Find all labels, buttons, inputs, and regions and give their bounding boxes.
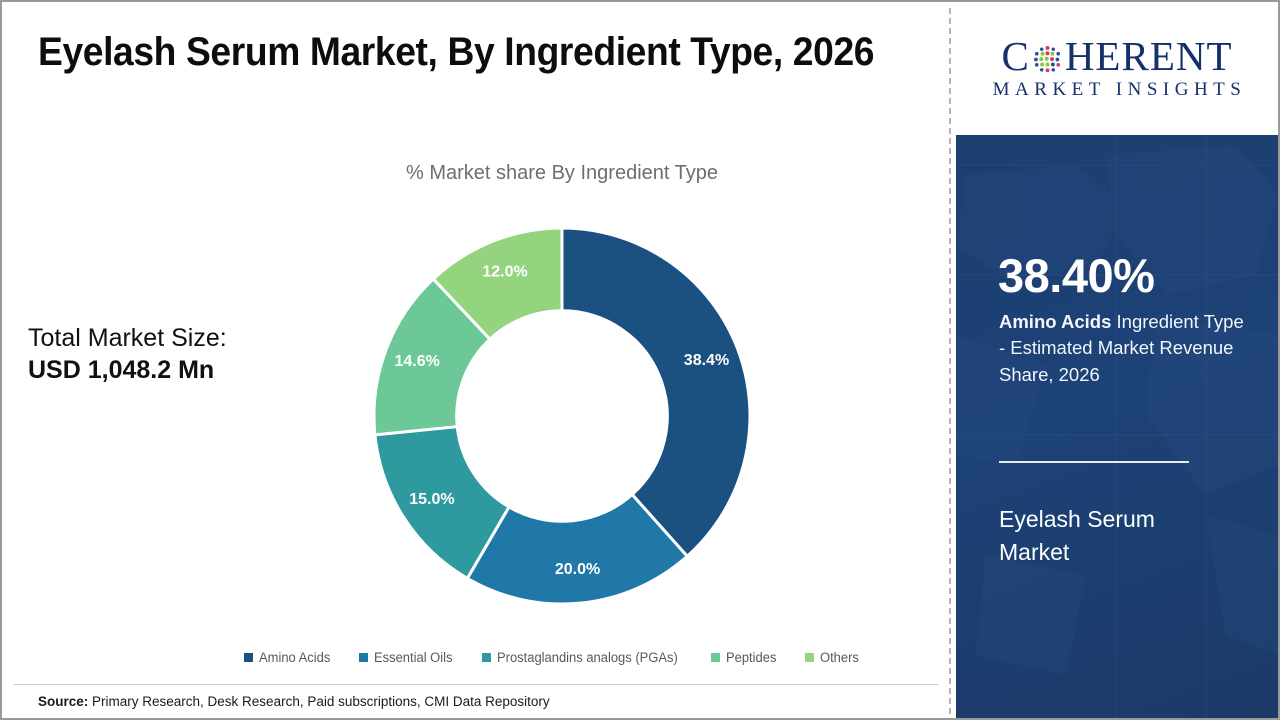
logo-wordmark: C <box>1001 36 1232 77</box>
legend-swatch-icon <box>359 653 368 662</box>
stat-panel: 38.40% Amino Acids Ingredient Type - Est… <box>956 135 1278 718</box>
legend-item[interactable]: Peptides <box>711 650 779 665</box>
legend-swatch-icon <box>805 653 814 662</box>
infographic-canvas: Eyelash Serum Market, By Ingredient Type… <box>0 0 1280 720</box>
stat-description-highlight: Amino Acids <box>999 311 1111 332</box>
total-market-size-value: USD 1,048.2 Mn <box>28 354 328 386</box>
donut-slice-group <box>374 228 750 604</box>
donut-slice-label: 12.0% <box>482 263 527 280</box>
source-text: Primary Research, Desk Research, Paid su… <box>88 694 549 709</box>
page-title: Eyelash Serum Market, By Ingredient Type… <box>38 30 856 75</box>
world-map-texture <box>956 135 1278 718</box>
legend-item[interactable]: Amino Acids <box>244 650 333 665</box>
stat-description: Amino Acids Ingredient Type - Estimated … <box>999 309 1249 388</box>
globe-dots-icon <box>1031 42 1064 75</box>
logo-letter-c: C <box>1001 36 1029 77</box>
donut-slice-label: 14.6% <box>394 353 439 370</box>
legend-label: Others <box>820 650 859 665</box>
legend-swatch-icon <box>482 653 491 662</box>
donut-slice <box>562 228 750 556</box>
right-panel: C <box>956 2 1278 718</box>
total-market-size-block: Total Market Size: USD 1,048.2 Mn <box>28 322 328 386</box>
left-panel: Eyelash Serum Market, By Ingredient Type… <box>2 2 950 718</box>
legend-item[interactable]: Others <box>805 650 861 665</box>
legend-item[interactable]: Prostaglandins analogs (PGAs) <box>482 650 685 665</box>
legend-label: Peptides <box>726 650 776 665</box>
legend-label: Amino Acids <box>259 650 330 665</box>
source-prefix: Source: <box>38 694 88 709</box>
total-market-size-label: Total Market Size: <box>28 322 328 354</box>
donut-chart: 38.4%20.0%15.0%14.6%12.0% <box>372 226 752 606</box>
legend-label: Essential Oils <box>374 650 453 665</box>
legend-item[interactable]: Essential Oils <box>359 650 456 665</box>
donut-slice-label: 20.0% <box>555 561 600 578</box>
panel-rule <box>999 461 1189 463</box>
report-name: Eyelash Serum Market <box>999 503 1229 570</box>
donut-slice-label: 38.4% <box>684 352 729 369</box>
source-divider <box>14 684 938 685</box>
panel-divider <box>949 8 951 714</box>
donut-chart-svg: 38.4%20.0%15.0%14.6%12.0% <box>372 226 752 606</box>
legend-swatch-icon <box>711 653 720 662</box>
source-line: Source: Primary Research, Desk Research,… <box>38 694 550 709</box>
logo-tagline: MARKET INSIGHTS <box>988 79 1247 101</box>
chart-legend: Amino AcidsEssential OilsProstaglandins … <box>182 650 922 665</box>
legend-label: Prostaglandins analogs (PGAs) <box>497 650 678 665</box>
stat-percentage: 38.40% <box>998 248 1154 303</box>
chart-subtitle: % Market share By Ingredient Type <box>247 162 877 185</box>
donut-slice-label: 15.0% <box>409 491 454 508</box>
logo-word-herent: HERENT <box>1065 36 1233 77</box>
brand-logo[interactable]: C <box>956 2 1278 135</box>
legend-swatch-icon <box>244 653 253 662</box>
